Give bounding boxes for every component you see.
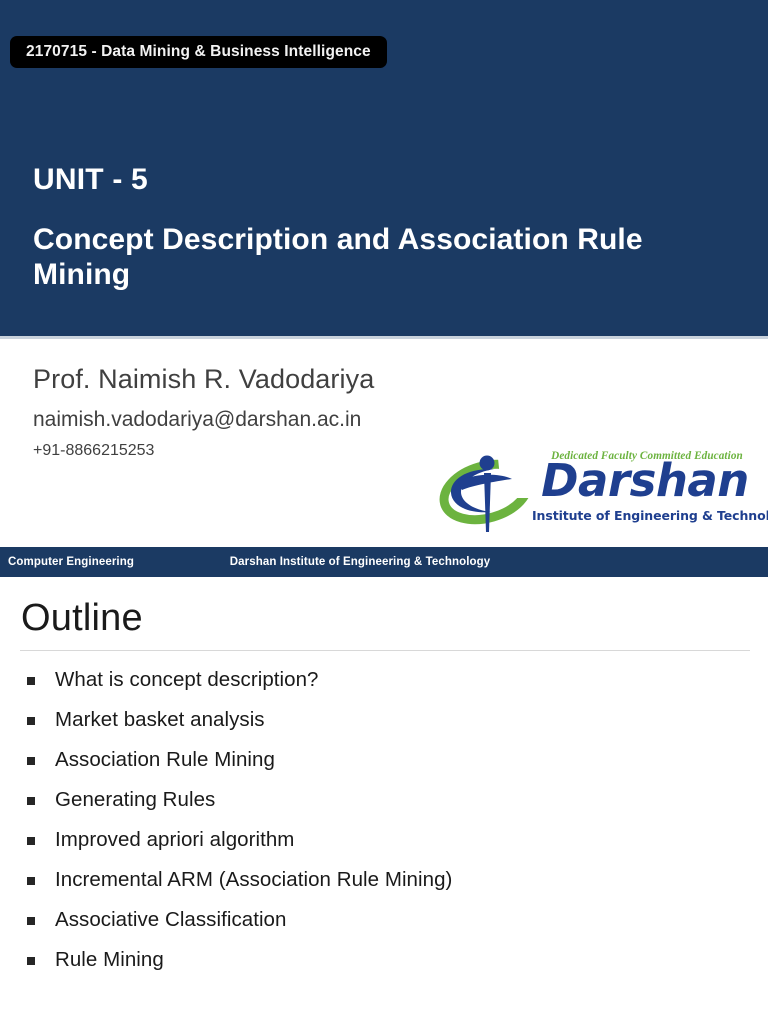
list-item-label: Incremental ARM (Association Rule Mining… bbox=[55, 867, 452, 894]
hero-divider bbox=[0, 336, 768, 339]
darshan-logo: Dedicated Faculty Committed Education Da… bbox=[436, 448, 756, 536]
course-code-label: 2170715 - Data Mining & Business Intelli… bbox=[26, 43, 371, 61]
outline-heading: Outline bbox=[21, 597, 143, 640]
list-item: Improved apriori algorithm bbox=[20, 827, 750, 867]
list-item-label: Associative Classification bbox=[55, 907, 286, 934]
square-bullet-icon bbox=[27, 957, 35, 965]
square-bullet-icon bbox=[27, 717, 35, 725]
square-bullet-icon bbox=[27, 917, 35, 925]
square-bullet-icon bbox=[27, 797, 35, 805]
slide-footer-bar: Darshan Institute of Engineering & Techn… bbox=[0, 547, 768, 577]
list-item: Market basket analysis bbox=[20, 707, 750, 747]
outline-heading-divider bbox=[20, 650, 750, 651]
list-item: Association Rule Mining bbox=[20, 747, 750, 787]
list-item-label: Association Rule Mining bbox=[55, 747, 275, 774]
course-code-badge: 2170715 - Data Mining & Business Intelli… bbox=[10, 36, 387, 68]
list-item-label: Rule Mining bbox=[55, 947, 164, 974]
square-bullet-icon bbox=[27, 757, 35, 765]
list-item-label: Market basket analysis bbox=[55, 707, 265, 734]
unit-title-heading: Concept Description and Association Rule… bbox=[33, 222, 653, 293]
list-item: Incremental ARM (Association Rule Mining… bbox=[20, 867, 750, 907]
list-item: Rule Mining bbox=[20, 947, 750, 987]
outline-list: What is concept description? Market bask… bbox=[20, 667, 750, 987]
square-bullet-icon bbox=[27, 677, 35, 685]
list-item-label: What is concept description? bbox=[55, 667, 318, 694]
square-bullet-icon bbox=[27, 877, 35, 885]
logo-subtext: Institute of Engineering & Technology bbox=[532, 508, 758, 523]
list-item-label: Improved apriori algorithm bbox=[55, 827, 294, 854]
list-item: Associative Classification bbox=[20, 907, 750, 947]
presenter-phone: +91-8866215253 bbox=[33, 442, 154, 460]
title-slide: 2170715 - Data Mining & Business Intelli… bbox=[0, 0, 768, 577]
darshan-logo-text: Dedicated Faculty Committed Education Da… bbox=[532, 448, 758, 536]
outline-slide: Outline What is concept description? Mar… bbox=[0, 577, 768, 1024]
square-bullet-icon bbox=[27, 837, 35, 845]
presenter-email: naimish.vadodariya@darshan.ac.in bbox=[33, 408, 361, 432]
list-item: Generating Rules bbox=[20, 787, 750, 827]
list-item-label: Generating Rules bbox=[55, 787, 215, 814]
list-item: What is concept description? bbox=[20, 667, 750, 707]
logo-wordmark: Darshan bbox=[532, 458, 758, 503]
darshan-emblem-icon bbox=[436, 452, 536, 536]
unit-number-label: UNIT - 5 bbox=[33, 163, 148, 197]
presenter-name: Prof. Naimish R. Vadodariya bbox=[33, 364, 374, 395]
footer-department-label: Computer Engineering bbox=[8, 556, 134, 568]
